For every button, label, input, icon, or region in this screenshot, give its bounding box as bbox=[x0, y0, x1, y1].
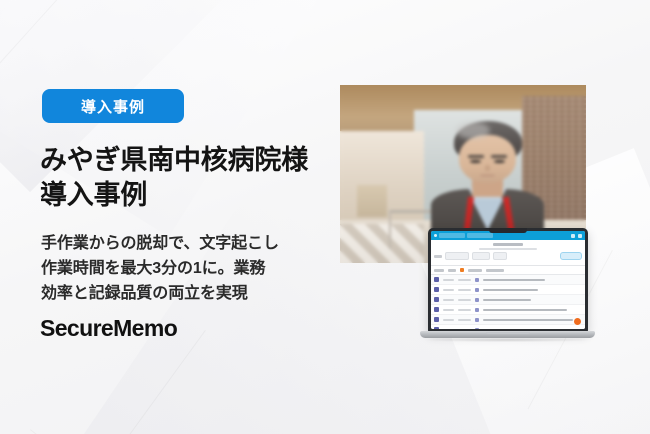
app-row-title bbox=[483, 319, 573, 321]
app-row-title bbox=[483, 309, 567, 311]
app-table-row bbox=[431, 285, 585, 295]
app-row-icon bbox=[434, 277, 439, 282]
laptop-screen bbox=[431, 231, 585, 329]
app-row-status-icon bbox=[475, 298, 479, 302]
app-table-row bbox=[431, 295, 585, 305]
app-header-actions bbox=[571, 234, 582, 238]
app-filter-panel bbox=[431, 240, 585, 266]
app-row-icon bbox=[434, 327, 439, 329]
page-subtitle-line-3: 効率と記録品質の両立を実現 bbox=[41, 282, 333, 307]
app-panel-subtitle bbox=[479, 248, 537, 250]
app-row-cell bbox=[443, 289, 454, 291]
app-column-header bbox=[448, 269, 456, 272]
app-row-cell bbox=[458, 319, 471, 321]
app-tab bbox=[439, 233, 465, 238]
app-filter-select bbox=[493, 252, 507, 260]
app-row-status-icon bbox=[475, 328, 479, 330]
app-row-title bbox=[483, 289, 538, 291]
app-filter-select bbox=[472, 252, 490, 260]
page-title-line-1: みやぎ県南中核病院様 bbox=[40, 143, 340, 178]
app-row-cell bbox=[458, 329, 471, 330]
app-row-cell bbox=[443, 309, 454, 311]
app-row-status-icon bbox=[475, 318, 479, 322]
app-row-cell bbox=[443, 329, 454, 330]
case-study-banner: 導入事例 みやぎ県南中核病院様 導入事例 手作業からの脱却で、文字起こし 作業時… bbox=[0, 0, 650, 434]
app-panel-title bbox=[493, 243, 523, 246]
app-row-cell bbox=[443, 279, 454, 281]
app-column-header bbox=[468, 269, 482, 272]
page-subtitle-line-2: 作業時間を最大3分の1に。業務 bbox=[41, 257, 333, 282]
app-table-header bbox=[431, 266, 585, 275]
app-row-title bbox=[483, 299, 531, 301]
page-title-line-2: 導入事例 bbox=[40, 178, 340, 213]
laptop-mockup bbox=[420, 228, 595, 348]
app-row-status-icon bbox=[475, 308, 479, 312]
category-badge-label: 導入事例 bbox=[81, 96, 145, 117]
app-row-icon bbox=[434, 297, 439, 302]
app-table-row bbox=[431, 305, 585, 315]
app-table-row bbox=[431, 275, 585, 285]
app-table-row bbox=[431, 315, 585, 325]
app-column-header bbox=[434, 269, 444, 272]
app-column-header bbox=[486, 269, 504, 272]
laptop-shadow bbox=[424, 338, 591, 342]
laptop-lid bbox=[428, 228, 588, 332]
app-row-cell bbox=[458, 299, 471, 301]
app-tab bbox=[467, 233, 493, 238]
app-row-status-icon bbox=[475, 288, 479, 292]
app-row-cell bbox=[458, 289, 471, 291]
page-subtitle-line-1: 手作業からの脱却で、文字起こし bbox=[41, 232, 333, 257]
app-row-title bbox=[483, 329, 535, 330]
page-title: みやぎ県南中核病院様 導入事例 bbox=[40, 143, 340, 212]
laptop-camera-notch bbox=[489, 228, 527, 233]
app-settings-icon bbox=[571, 234, 575, 238]
category-badge: 導入事例 bbox=[42, 89, 184, 123]
app-table-row bbox=[431, 325, 585, 329]
app-row-cell bbox=[443, 319, 454, 321]
app-alert-icon bbox=[460, 268, 464, 272]
app-help-fab-icon bbox=[574, 318, 581, 325]
app-filter-label bbox=[434, 255, 442, 258]
app-row-status-icon bbox=[475, 278, 479, 282]
app-filter-select bbox=[445, 252, 469, 260]
app-record-table bbox=[431, 266, 585, 329]
app-row-cell bbox=[458, 279, 471, 281]
product-logo: SecureMemo bbox=[40, 315, 177, 342]
app-row-cell bbox=[458, 309, 471, 311]
laptop-base-notch bbox=[486, 332, 530, 334]
app-filter-row bbox=[434, 252, 582, 260]
page-subtitle: 手作業からの脱却で、文字起こし 作業時間を最大3分の1に。業務 効率と記録品質の… bbox=[41, 232, 333, 306]
app-account-icon bbox=[578, 234, 582, 238]
app-row-icon bbox=[434, 287, 439, 292]
app-search-button bbox=[560, 252, 582, 260]
app-row-title bbox=[483, 279, 545, 281]
app-menu-icon bbox=[434, 234, 437, 237]
app-row-icon bbox=[434, 317, 439, 322]
app-row-cell bbox=[443, 299, 454, 301]
app-row-icon bbox=[434, 307, 439, 312]
